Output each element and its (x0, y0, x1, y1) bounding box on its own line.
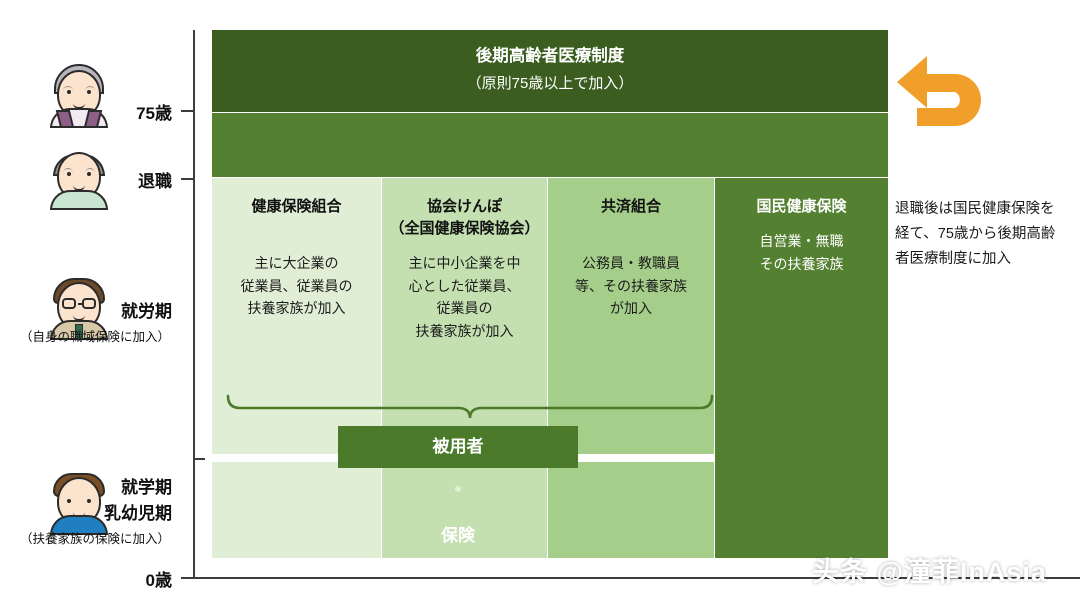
column-description: 公務員・教職員 等、その扶養家族 が加入 (548, 252, 714, 320)
axis-label-working: 就労期 (110, 297, 172, 322)
column-title: 共済組合 (548, 196, 714, 218)
badge-label-tail: 保険 (338, 515, 578, 557)
eye-right (87, 90, 91, 94)
eye-left (67, 172, 71, 176)
band-transition (212, 113, 888, 177)
body-shape (50, 190, 108, 210)
badge-label: 被用者※保険 (338, 426, 578, 557)
column-title: 協会けんぽ （全国健康保険協会） (382, 196, 547, 240)
column-title: 国民健康保険 (715, 196, 888, 218)
badge-label-mark: ※ (454, 484, 462, 494)
avatar-elderly-man (48, 140, 110, 210)
badge-label-main: 被用者 (338, 426, 578, 468)
band-subtitle: （原則75歳以上で加入） (212, 72, 888, 93)
column-kokumin-kenko-hoken: 国民健康保険 自営業・無職 その扶養家族 (715, 178, 888, 558)
watermark-text: 头条 @潼菲InAsia (812, 550, 1047, 589)
glasses-bridge (78, 303, 84, 305)
axis-tick-school (193, 458, 205, 460)
eye-left (67, 499, 71, 503)
axis-label-zero: 0歳 (110, 566, 172, 591)
axis-tick-retire (181, 178, 195, 180)
avatar-elderly-woman (48, 58, 110, 128)
employee-insurance-badge: 被用者※保険 (338, 426, 578, 468)
u-turn-arrow-icon (893, 48, 993, 144)
retirement-annotation-text: 退職後は国民健康保険を経て、75歳から後期高齢者医療制度に加入 (895, 197, 1067, 272)
axis-label-infancy: 乳幼児期 (90, 499, 172, 524)
glasses-right-lens (82, 298, 96, 309)
column-title-main: 協会けんぽ (382, 196, 547, 218)
band-title: 後期高齢者医療制度 (212, 42, 888, 66)
insurance-chart: 後期高齢者医療制度 （原則75歳以上で加入） 健康保険組合 主に大企業の 従業員… (212, 30, 888, 558)
column-description: 主に大企業の 従業員、従業員の 扶養家族が加入 (212, 252, 381, 320)
axis-label-retire: 退職 (110, 167, 172, 192)
band-late-elderly-insurance: 後期高齢者医療制度 （原則75歳以上で加入） (212, 30, 888, 112)
axis-tick-zero (181, 577, 195, 579)
axis-tick-75 (181, 110, 195, 112)
axis-sublabel-working: （自身の職域保険に加入） (2, 326, 188, 345)
eye-right (87, 172, 91, 176)
column-description: 自営業・無職 その扶養家族 (715, 230, 888, 275)
glasses-left-lens (62, 298, 76, 309)
eye-left (67, 90, 71, 94)
axis-vertical-line (193, 30, 195, 578)
axis-label-school: 就学期 (110, 473, 172, 498)
column-title: 健康保険組合 (212, 196, 381, 218)
employee-insurance-brace (226, 394, 714, 420)
column-title-sub: （全国健康保険協会） (382, 218, 547, 240)
axis-sublabel-school: （扶養家族の保険に加入） (2, 528, 188, 547)
axis-label-75: 75歳 (110, 99, 172, 124)
column-description: 主に中小企業を中 心とした従業員、 従業員の 扶養家族が加入 (382, 252, 547, 343)
